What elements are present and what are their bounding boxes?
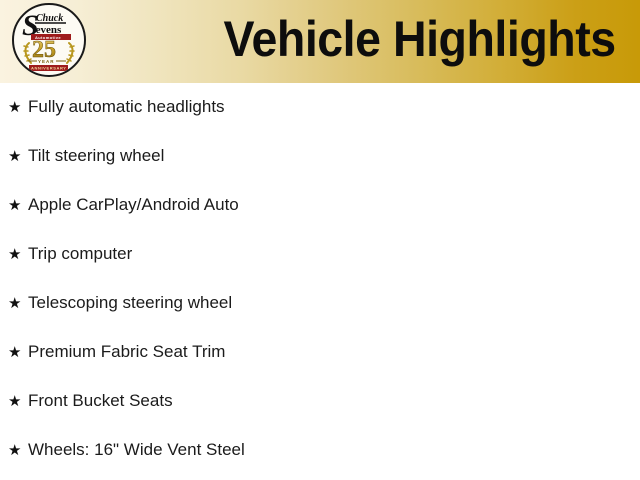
list-item-label: Tilt steering wheel [28, 146, 164, 166]
list-item: ★ Wheels: 16" Wide Vent Steel [8, 440, 245, 461]
list-item: ★ Front Bucket Seats [8, 391, 173, 412]
list-item-label: Wheels: 16" Wide Vent Steel [28, 440, 245, 460]
list-item: ★ Fully automatic headlights [8, 97, 225, 118]
dealer-logo: S Chuck tevens Automotive 25 [12, 3, 86, 77]
star-icon: ★ [8, 147, 28, 167]
svg-text:ANNIVERSARY: ANNIVERSARY [31, 66, 67, 71]
logo-disc: S Chuck tevens Automotive 25 [12, 3, 86, 77]
list-item-label: Premium Fabric Seat Trim [28, 342, 225, 362]
vehicle-highlights-slide: S Chuck tevens Automotive 25 [0, 0, 640, 480]
list-item-label: Trip computer [28, 244, 132, 264]
star-icon: ★ [8, 392, 28, 412]
page-title: Vehicle Highlights [224, 8, 616, 70]
star-icon: ★ [8, 245, 28, 265]
star-icon: ★ [8, 294, 28, 314]
svg-text:YEAR: YEAR [38, 59, 55, 64]
star-icon: ★ [8, 343, 28, 363]
vehicle-highlights-list: ★ Fully automatic headlights ★ Tilt stee… [0, 83, 640, 480]
star-icon: ★ [8, 441, 28, 461]
list-item-label: Apple CarPlay/Android Auto [28, 195, 239, 215]
list-item: ★ Tilt steering wheel [8, 146, 164, 167]
list-item: ★ Premium Fabric Seat Trim [8, 342, 225, 363]
star-icon: ★ [8, 196, 28, 216]
star-icon: ★ [8, 98, 28, 118]
list-item-label: Telescoping steering wheel [28, 293, 232, 313]
list-item: ★ Trip computer [8, 244, 132, 265]
list-item-label: Fully automatic headlights [28, 97, 225, 117]
list-item: ★ Apple CarPlay/Android Auto [8, 195, 239, 216]
list-item-label: Front Bucket Seats [28, 391, 173, 411]
logo-artwork: S Chuck tevens Automotive 25 [14, 5, 84, 75]
slide-header: S Chuck tevens Automotive 25 [0, 0, 640, 83]
list-item: ★ Telescoping steering wheel [8, 293, 232, 314]
